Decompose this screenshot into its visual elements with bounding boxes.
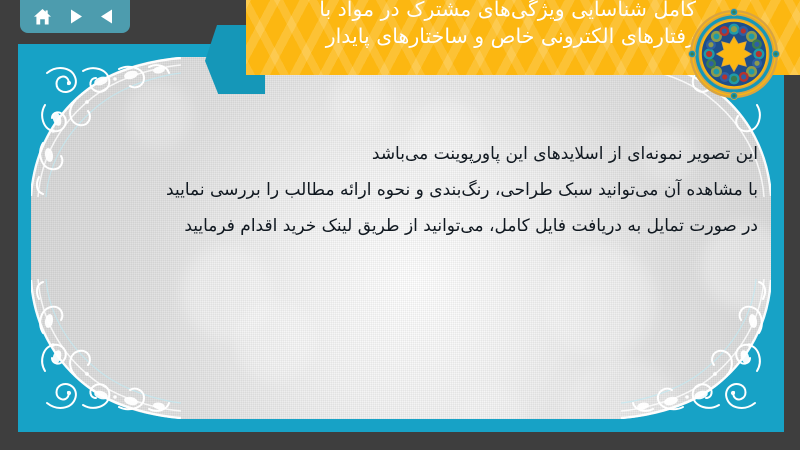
slide-navigation-bar[interactable] [20,0,130,33]
body-line-2: با مشاهده آن می‌توانید سبک طراحی، رنگ‌بن… [44,172,758,208]
slide-card: این تصویر نمونه‌ای از اسلایدهای این پاور… [18,44,784,432]
slide-body-text: این تصویر نمونه‌ای از اسلایدهای این پاور… [44,136,758,244]
bokeh-circle [236,302,314,380]
bokeh-circle [331,72,391,132]
slide-title: کامل شناسایی ویژگی‌های مشترک در مواد با … [254,0,696,50]
bokeh-circle [461,387,525,419]
next-slide-button[interactable] [62,5,88,29]
body-line-3: در صورت تمایل به دریافت فایل کامل، می‌تو… [44,208,758,244]
bokeh-circle [561,357,681,419]
previous-slide-button[interactable] [95,5,121,29]
bokeh-circle [546,247,656,357]
body-line-1: این تصویر نمونه‌ای از اسلایدهای این پاور… [44,136,758,172]
persian-medallion-ornament [688,8,780,100]
slide-viewer-stage: این تصویر نمونه‌ای از اسلایدهای این پاور… [0,0,800,450]
home-button[interactable] [29,5,55,29]
